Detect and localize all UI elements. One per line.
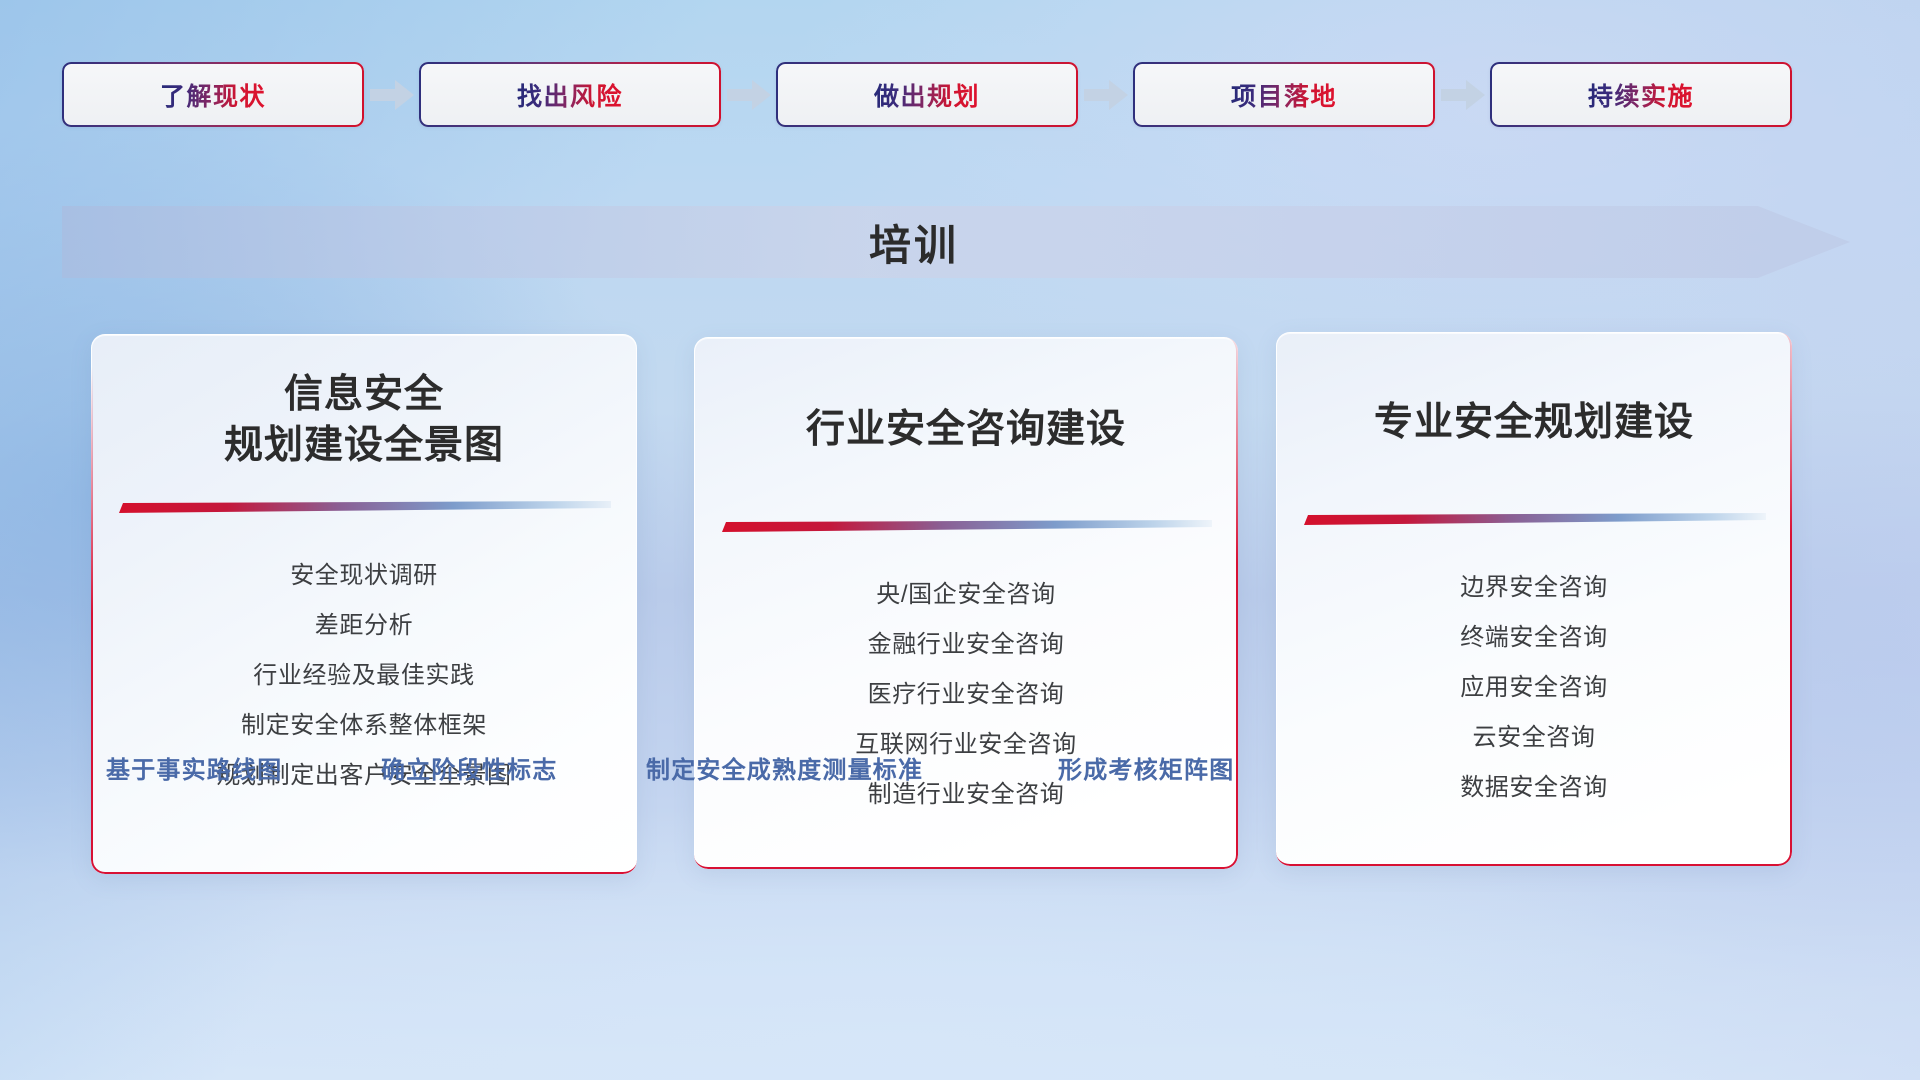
capability-card-3[interactable]: 专业安全规划建设 边界安全咨询 终端安全咨询 应用安 <box>1276 332 1792 866</box>
step-chip-4[interactable]: 项目落地 <box>1133 62 1435 127</box>
capability-card-1-accent-rule <box>117 499 611 515</box>
step-chip-3-label: 做出规划 <box>874 77 980 113</box>
step-chip-5[interactable]: 持续实施 <box>1490 62 1792 127</box>
training-banner-label: 培训 <box>62 206 1850 278</box>
training-banner: 培训 <box>62 206 1850 278</box>
outcome-caption-1: 基于事实路线图 <box>106 750 282 785</box>
list-item: 终端安全咨询 <box>1460 613 1608 663</box>
step-chip-1-label: 了解现状 <box>160 77 266 113</box>
list-item: 制定安全体系整体框架 <box>241 701 487 751</box>
list-item: 央/国企安全咨询 <box>876 570 1055 620</box>
step-arrow-icon-1 <box>364 57 419 132</box>
step-chip-3[interactable]: 做出规划 <box>776 62 1078 127</box>
list-item: 云安全咨询 <box>1473 713 1596 763</box>
list-item: 数据安全咨询 <box>1460 763 1608 813</box>
step-chip-2[interactable]: 找出风险 <box>419 62 721 127</box>
process-step-row: 了解现状 找出风险 做出规划 项目落地 持续实施 <box>0 57 1920 132</box>
capability-card-3-accent-rule <box>1302 511 1766 527</box>
step-chip-4-label: 项目落地 <box>1231 77 1337 113</box>
outcome-caption-3: 制定安全成熟度测量标准 <box>646 750 923 785</box>
list-item: 安全现状调研 <box>290 551 438 601</box>
step-chip-5-label: 持续实施 <box>1588 77 1694 113</box>
step-arrow-icon-4 <box>1435 57 1490 132</box>
capability-card-2-accent-rule <box>720 518 1212 534</box>
capability-card-2-title: 行业安全咨询建设 <box>806 405 1126 456</box>
list-item: 医疗行业安全咨询 <box>868 670 1065 720</box>
capability-card-2[interactable]: 行业安全咨询建设 央/国企安全咨询 金融行业安全咨询 <box>694 337 1238 869</box>
list-item: 应用安全咨询 <box>1460 663 1608 713</box>
capability-card-1[interactable]: 信息安全 规划建设全景图 安全现状调研 差距分析 行 <box>91 334 637 874</box>
step-arrow-icon-2 <box>721 57 776 132</box>
list-item: 金融行业安全咨询 <box>868 620 1065 670</box>
step-arrow-icon-3 <box>1078 57 1133 132</box>
list-item: 边界安全咨询 <box>1460 563 1608 613</box>
capability-card-3-list: 边界安全咨询 终端安全咨询 应用安全咨询 云安全咨询 数据安全咨询 <box>1302 563 1766 813</box>
list-item: 差距分析 <box>315 601 413 651</box>
capability-card-3-title: 专业安全规划建设 <box>1374 398 1694 449</box>
step-chip-2-label: 找出风险 <box>517 77 623 113</box>
list-item: 行业经验及最佳实践 <box>253 651 474 701</box>
outcome-caption-2: 确立阶段性标志 <box>381 750 557 785</box>
capability-card-1-title: 信息安全 规划建设全景图 <box>224 370 504 471</box>
outcome-caption-4: 形成考核矩阵图 <box>1058 750 1234 785</box>
step-chip-1[interactable]: 了解现状 <box>62 62 364 127</box>
